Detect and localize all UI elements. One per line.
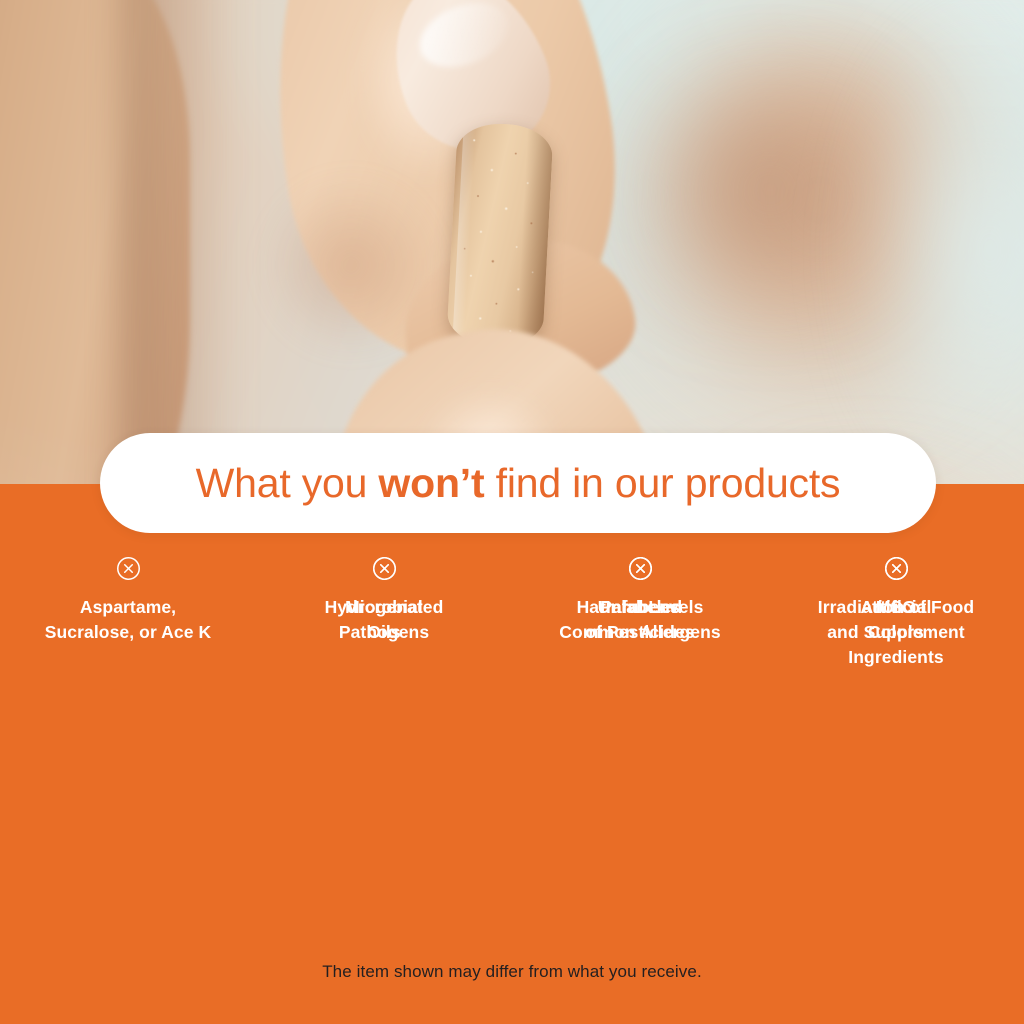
promo-graphic: What you won’t find in our products Aspa…	[0, 0, 1024, 1024]
page-title: What you won’t find in our products	[196, 463, 841, 504]
disclaimer-text: The item shown may differ from what you …	[0, 962, 1024, 982]
background-blur-cool	[820, 0, 1024, 484]
x-circle-icon	[884, 556, 909, 581]
label-line: Aspartame,	[45, 595, 212, 620]
headline-part-2: find in our products	[484, 460, 840, 506]
forearm-shadow	[120, 0, 240, 484]
excluded-item: Aspartame, Sucralose, or Ace K	[0, 556, 256, 674]
label-line: Harmful Levels	[577, 595, 704, 620]
excluded-item-label: Hydrogenated Oils	[325, 595, 444, 645]
x-circle-icon	[372, 556, 397, 581]
label-line: Oils	[325, 620, 444, 645]
excluded-item: Harmful Levels of Pesticides	[512, 556, 768, 682]
headline-part-1: What you	[196, 460, 379, 506]
label-line: Ingredients	[818, 645, 974, 670]
excluded-item: Hydrogenated Oils	[256, 556, 512, 674]
label-line: Sucralose, or Ace K	[45, 620, 212, 645]
x-circle-icon	[116, 556, 141, 581]
excluded-item-label: Irradiation of Food and Supplement Ingre…	[818, 595, 974, 670]
headline-banner: What you won’t find in our products	[100, 433, 936, 533]
excluded-item-label: Aspartame, Sucralose, or Ace K	[45, 595, 212, 645]
label-line: of Pesticides	[577, 620, 704, 645]
supplement-tablet	[446, 122, 553, 349]
excluded-item: Irradiation of Food and Supplement Ingre…	[768, 556, 1024, 682]
excluded-ingredients-grid: Aspartame, Sucralose, or Ace K Microbial…	[0, 556, 1024, 682]
grid-row: Harmful Levels of Pesticides Irradiation…	[512, 556, 1024, 682]
headline-emphasis: won’t	[378, 460, 484, 506]
hero-photo	[0, 0, 1024, 484]
excluded-item-label: Harmful Levels of Pesticides	[577, 595, 704, 645]
label-line: Irradiation of Food	[818, 595, 974, 620]
label-line: and Supplement	[818, 620, 974, 645]
label-line: Hydrogenated	[325, 595, 444, 620]
x-circle-icon	[628, 556, 653, 581]
